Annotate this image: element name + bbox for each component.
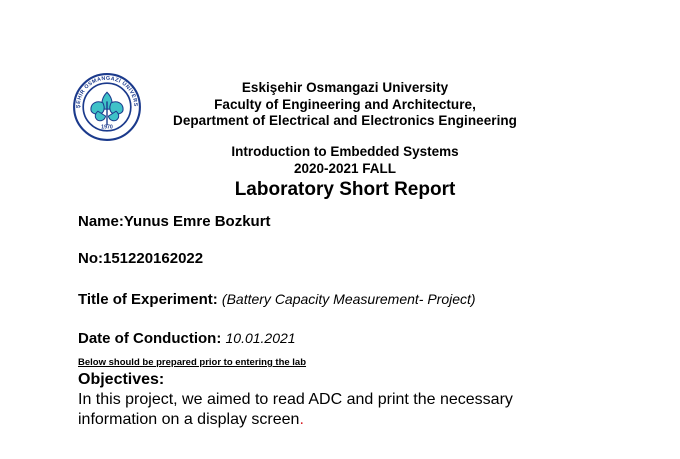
title-block: Introduction to Embedded Systems 2020-20… <box>170 144 520 202</box>
document-header: ESKİŞEHİR OSMANGAZİ ÜNİVERSİTESİ 1970 Es… <box>0 72 680 144</box>
field-row-date: Date of Conduction: 10.01.2021 <box>78 329 638 348</box>
course-name: Introduction to Embedded Systems <box>170 144 520 161</box>
experiment-title-value: (Battery Capacity Measurement- Project) <box>222 291 476 307</box>
student-no-label: No: <box>78 250 103 267</box>
preparation-note: Below should be prepared prior to enteri… <box>78 357 306 368</box>
institution-line-department: Department of Electrical and Electronics… <box>170 113 520 130</box>
name-value: Yunus Emre Bozkurt <box>124 213 271 230</box>
objectives-section: Objectives: In this project, we aimed to… <box>78 370 548 430</box>
field-row-student-no: No:151220162022 <box>78 249 638 268</box>
institution-block: Eskişehir Osmangazi University Faculty o… <box>170 80 520 130</box>
report-fields: Name:Yunus Emre Bozkurt No:151220162022 … <box>78 212 638 348</box>
objectives-terminator: . <box>299 411 303 428</box>
objectives-heading: Objectives: <box>78 370 548 390</box>
institution-line-faculty: Faculty of Engineering and Architecture, <box>170 97 520 114</box>
date-label: Date of Conduction: <box>78 330 221 347</box>
field-row-name: Name:Yunus Emre Bozkurt <box>78 212 638 231</box>
university-seal-logo: ESKİŞEHİR OSMANGAZİ ÜNİVERSİTESİ 1970 <box>70 72 144 142</box>
experiment-title-label: Title of Experiment: <box>78 291 218 308</box>
page-title: Laboratory Short Report <box>170 178 520 202</box>
field-row-experiment-title: Title of Experiment: (Battery Capacity M… <box>78 290 638 309</box>
objectives-body: In this project, we aimed to read ADC an… <box>78 390 548 430</box>
academic-term: 2020-2021 FALL <box>170 161 520 178</box>
student-no-value: 151220162022 <box>103 250 203 267</box>
objectives-body-text: In this project, we aimed to read ADC an… <box>78 391 513 428</box>
name-label: Name: <box>78 213 124 230</box>
report-page: ESKİŞEHİR OSMANGAZİ ÜNİVERSİTESİ 1970 Es… <box>0 0 680 459</box>
seal-year: 1970 <box>101 125 113 131</box>
institution-line-university: Eskişehir Osmangazi University <box>170 80 520 97</box>
date-value: 10.01.2021 <box>226 330 296 346</box>
